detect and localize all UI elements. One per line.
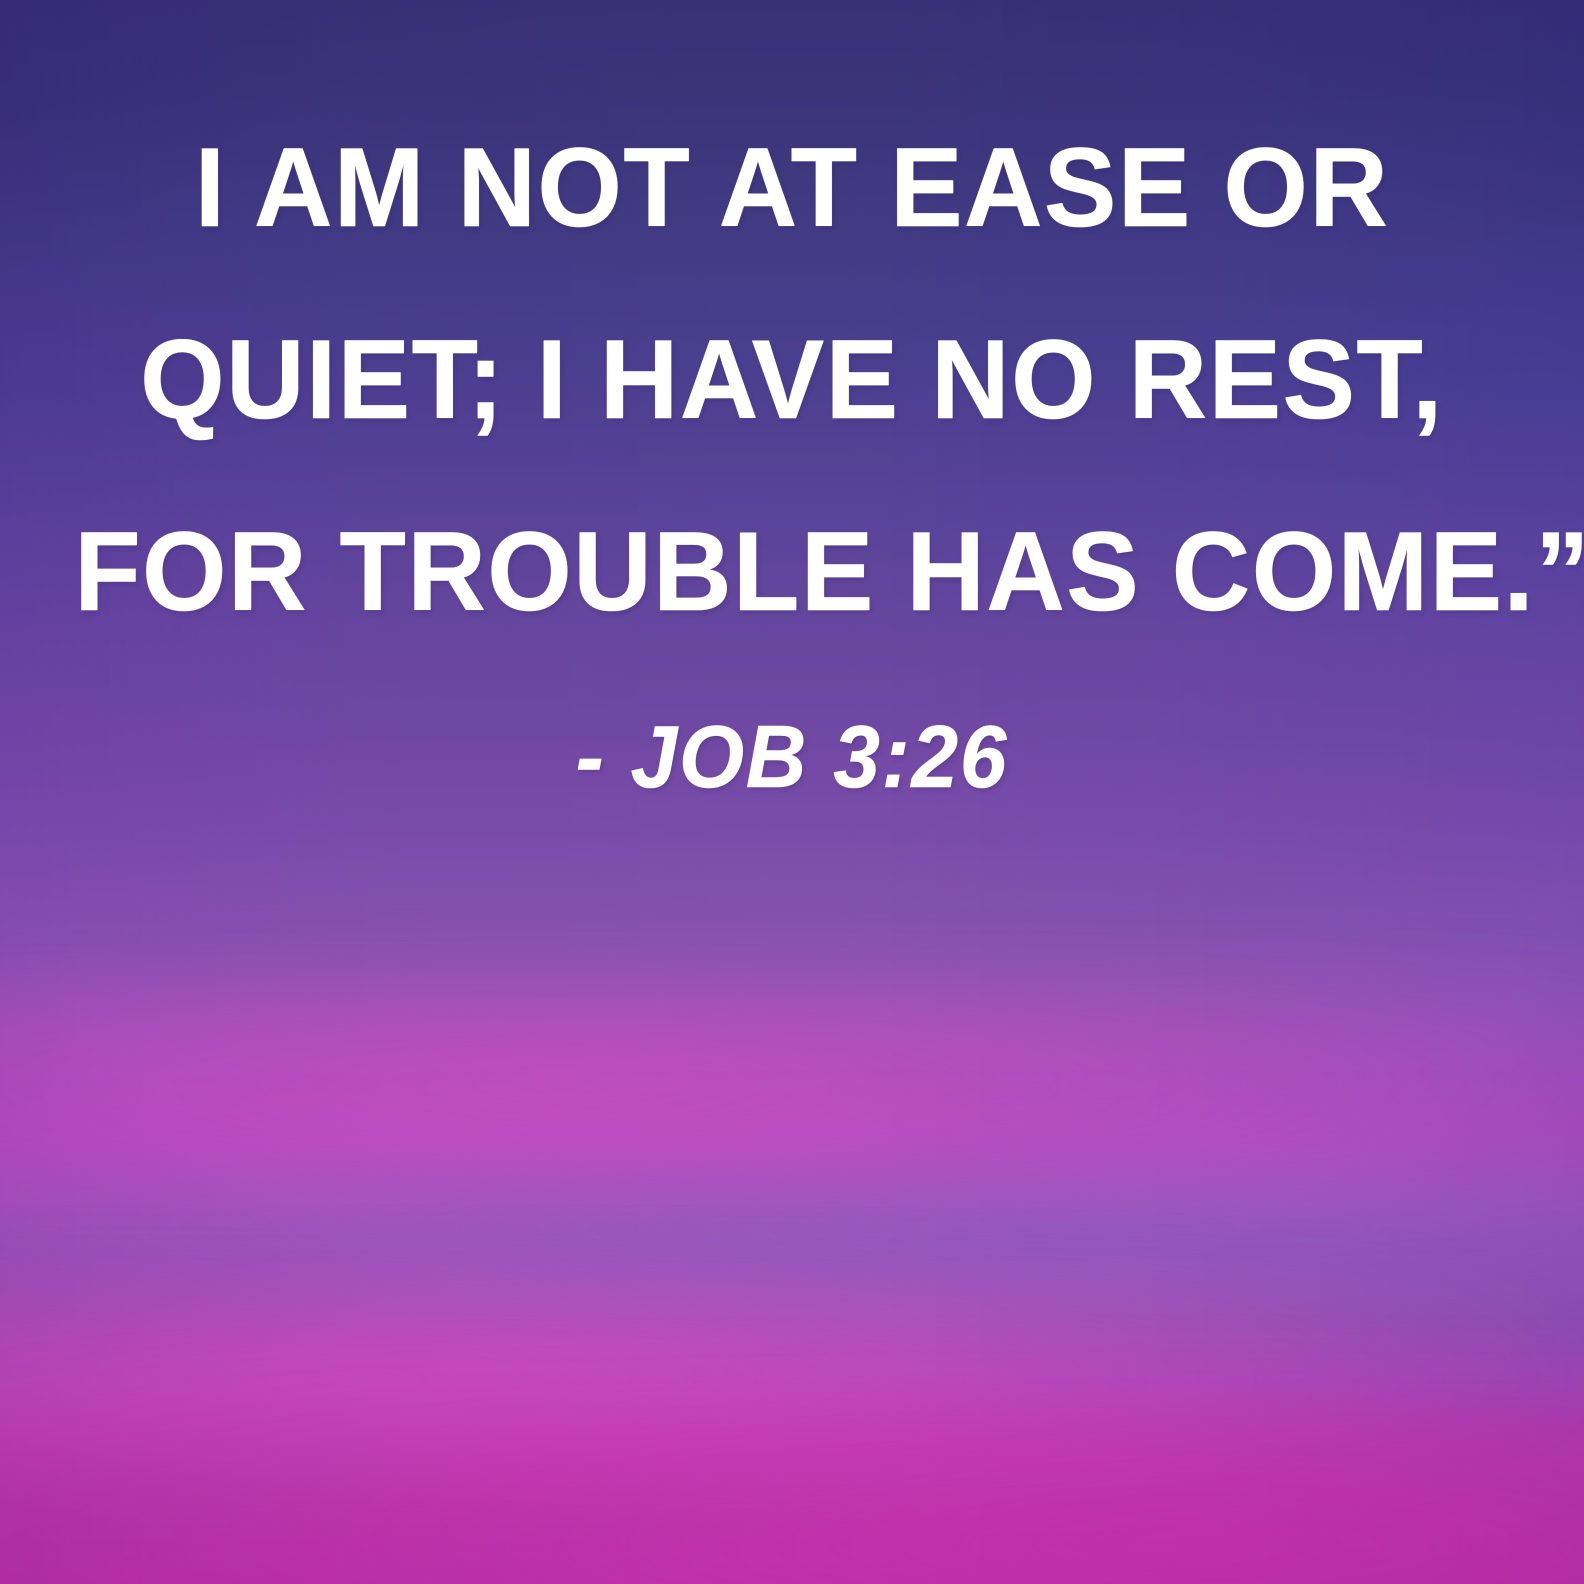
verse-text-block: I AM NOT AT EASE OR QUIET; I HAVE NO RES… [0,92,1584,812]
verse-image-canvas: I AM NOT AT EASE OR QUIET; I HAVE NO RES… [0,0,1584,1584]
verse-line-3: FOR TROUBLE HAS COME.” [74,476,1510,668]
verse-reference: - JOB 3:26 [89,702,1495,812]
verse-line-2: QUIET; I HAVE NO REST, [74,284,1510,476]
verse-line-1: I AM NOT AT EASE OR [74,92,1510,284]
